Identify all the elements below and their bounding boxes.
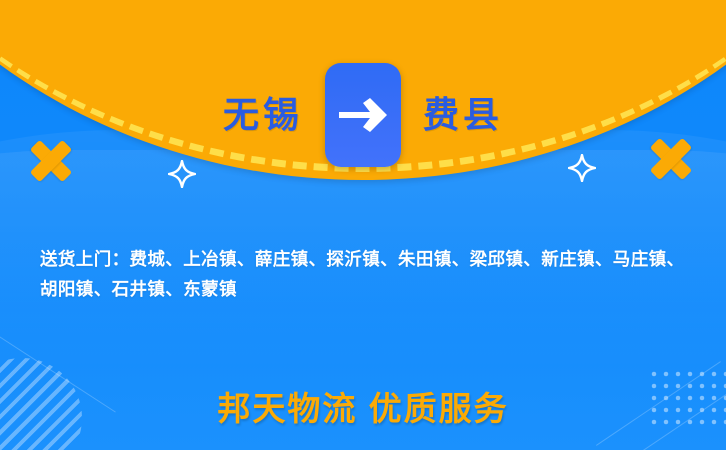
logistics-banner: 无锡 费县 送货上门：费城、上冶镇、薛庄镇、探沂镇、朱田镇、梁邱镇、新庄镇、马庄… [0,0,726,450]
sparkle-icon [168,160,196,188]
route-header: 无锡 费县 [0,78,726,152]
arrow-right-icon [337,95,389,135]
delivery-areas-text: 送货上门：费城、上冶镇、薛庄镇、探沂镇、朱田镇、梁邱镇、新庄镇、马庄镇、胡阳镇、… [40,244,688,304]
origin-city-label: 无锡 [143,97,325,133]
route-arrow-button[interactable] [325,63,401,167]
company-slogan: 邦天物流 优质服务 [0,392,726,425]
destination-city-label: 费县 [401,97,583,133]
sparkle-icon [568,154,596,182]
